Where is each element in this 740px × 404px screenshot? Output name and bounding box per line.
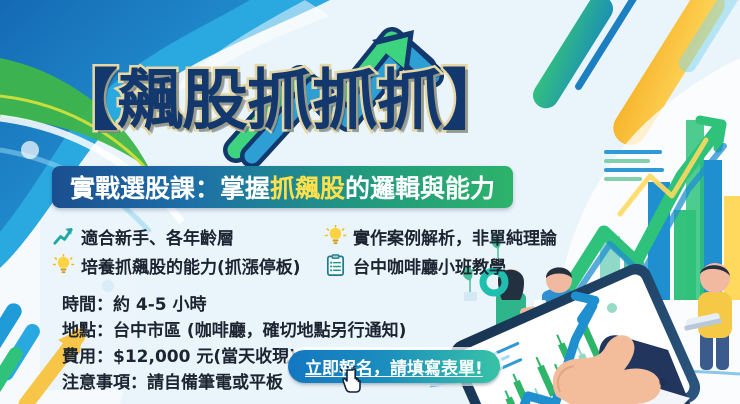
- detail-time: 時間：約 4-5 小時: [62, 292, 406, 318]
- subtitle-bar: 實戰選股課：掌握抓飆股的邏輯與能力: [52, 166, 513, 208]
- feature-item-0: 適合新手、各年齡層: [52, 224, 324, 249]
- subtitle-before: 實戰選股課：掌握: [70, 174, 270, 203]
- hand-pointer-icon: [340, 366, 366, 394]
- subtitle-text: 實戰選股課：掌握抓飆股的邏輯與能力: [70, 169, 495, 205]
- feature-label-0: 適合新手、各年齡層: [81, 224, 234, 249]
- signup-cta-label: 立即報名，請填寫表單!: [305, 354, 483, 379]
- feature-list: 適合新手、各年齡層 實作案例解析，非單純理論: [52, 222, 612, 280]
- feature-label-2: 培養抓飆股的能力(抓漲停板): [81, 253, 301, 278]
- page-title: 【飆股抓抓抓】: [52, 57, 592, 145]
- detail-location: 地點：台中市區 (咖啡廳，確切地點另行通知): [62, 318, 406, 344]
- lightbulb-icon: [324, 225, 347, 248]
- promo-banner: 【飆股抓抓抓】 實戰選股課：掌握抓飆股的邏輯與能力 適合新手、各年齡層: [0, 0, 740, 404]
- title-container: 【飆股抓抓抓】: [52, 57, 592, 145]
- clipboard-icon: [324, 254, 347, 277]
- signup-cta-button[interactable]: 立即報名，請填寫表單!: [288, 350, 500, 383]
- subtitle-after: 的邏輯與能力: [345, 174, 495, 203]
- subtitle-highlight: 抓飆股: [270, 174, 345, 203]
- feature-item-1: 實作案例解析，非單純理論: [324, 224, 612, 249]
- lightbulb-icon: [52, 254, 75, 277]
- feature-label-1: 實作案例解析，非單純理論: [353, 224, 557, 249]
- feature-item-3: 台中咖啡廳小班教學: [324, 253, 612, 278]
- feature-item-2: 培養抓飆股的能力(抓漲停板): [52, 253, 324, 278]
- feature-label-3: 台中咖啡廳小班教學: [353, 253, 506, 278]
- chart-up-icon: [52, 225, 75, 248]
